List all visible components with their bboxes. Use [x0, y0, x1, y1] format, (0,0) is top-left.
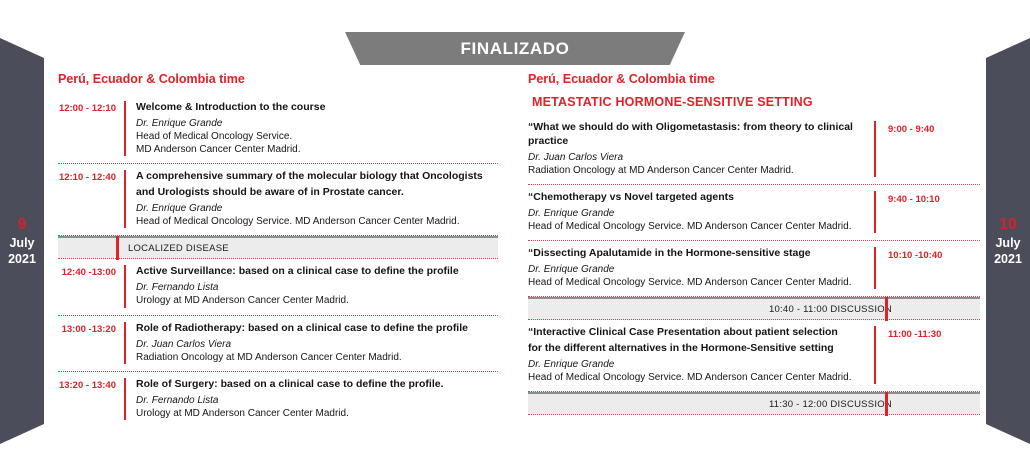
session-affiliation: Radiation Oncology at MD Anderson Cancer…	[528, 164, 864, 177]
section-band-localized-disease: LOCALIZED DISEASE	[58, 236, 498, 259]
session-affiliation: Head of Medical Oncology Service. MD And…	[136, 215, 498, 228]
session-body: “Interactive Clinical Case Presentation …	[528, 326, 874, 384]
session-time: 9:40 - 10:10	[874, 191, 980, 233]
agenda-poster: FINALIZADO 9 July 2021 10 July 2021 Perú…	[0, 0, 1030, 450]
session-affiliation: Head of Medical Oncology Service. MD And…	[528, 371, 864, 384]
session-body: A comprehensive summary of the molecular…	[124, 170, 498, 228]
session-speaker: Dr. Enrique Grande	[528, 263, 864, 276]
session-title: “Dissecting Apalutamide in the Hormone-s…	[528, 247, 864, 261]
timezone-header: Perú, Ecuador & Colombia time	[58, 72, 498, 86]
session-row: 12:10 - 12:40 A comprehensive summary of…	[58, 164, 498, 236]
date-slab-day1: 9 July 2021	[0, 38, 44, 444]
session-speaker: Dr. Enrique Grande	[136, 202, 498, 215]
session-title: Role of Radiotherapy: based on a clinica…	[136, 322, 498, 336]
session-speaker: Dr. Enrique Grande	[136, 117, 498, 130]
status-banner: FINALIZADO	[345, 32, 685, 65]
session-body: Role of Surgery: based on a clinical cas…	[124, 378, 498, 420]
session-time: 11:00 -11:30	[874, 326, 980, 384]
session-speaker: Dr. Enrique Grande	[528, 207, 864, 220]
session-row: “Dissecting Apalutamide in the Hormone-s…	[528, 241, 980, 297]
session-time: 12:40 -13:00	[58, 265, 124, 307]
session-affiliation: Head of Medical Oncology Service.	[136, 130, 498, 143]
session-time: 12:00 - 12:10	[58, 101, 124, 156]
session-body: “What we should do with Oligometastasis:…	[528, 121, 874, 177]
session-speaker: Dr. Juan Carlos Viera	[136, 338, 498, 351]
agenda-column-day1: Perú, Ecuador & Colombia time 12:00 - 12…	[58, 72, 498, 427]
session-time: 13:00 -13:20	[58, 322, 124, 364]
session-body: “Chemotherapy vs Novel targeted agents D…	[528, 191, 874, 233]
session-title: Active Surveillance: based on a clinical…	[136, 265, 498, 279]
session-affiliation: MD Anderson Cancer Center Madrid.	[136, 143, 498, 156]
date-year: 2021	[8, 251, 36, 267]
session-affiliation: Urology at MD Anderson Cancer Center Mad…	[136, 294, 498, 307]
accent-spine	[885, 392, 888, 416]
accent-spine	[885, 297, 888, 321]
session-row: “What we should do with Oligometastasis:…	[528, 115, 980, 185]
discussion-band-label: 10:40 - 11:00 DISCUSSION	[769, 304, 892, 315]
session-title: “Interactive Clinical Case Presentation …	[528, 326, 864, 340]
session-affiliation: Radiation Oncology at MD Anderson Cancer…	[136, 351, 498, 364]
session-title: Welcome & Introduction to the course	[136, 101, 498, 115]
session-title: Role of Surgery: based on a clinical cas…	[136, 378, 498, 392]
status-badge: FINALIZADO	[461, 39, 570, 59]
accent-spine	[116, 236, 119, 260]
session-title: A comprehensive summary of the molecular…	[136, 170, 498, 184]
session-speaker: Dr. Enrique Grande	[528, 358, 864, 371]
section-band-label: LOCALIZED DISEASE	[128, 243, 229, 254]
date-month: July	[995, 235, 1020, 251]
date-day: 9	[18, 215, 27, 235]
session-row: “Chemotherapy vs Novel targeted agents D…	[528, 185, 980, 241]
date-year: 2021	[994, 251, 1022, 267]
session-affiliation: Head of Medical Oncology Service. MD And…	[528, 276, 864, 289]
session-affiliation: Urology at MD Anderson Cancer Center Mad…	[136, 407, 498, 420]
session-row: 12:40 -13:00 Active Surveillance: based …	[58, 259, 498, 315]
session-row: “Interactive Clinical Case Presentation …	[528, 320, 980, 392]
session-speaker: Dr. Fernando Lista	[136, 281, 498, 294]
session-time: 9:00 - 9:40	[874, 121, 980, 177]
session-title: “Chemotherapy vs Novel targeted agents	[528, 191, 864, 205]
date-slab-day2: 10 July 2021	[986, 38, 1030, 444]
session-time: 10:10 -10:40	[874, 247, 980, 289]
session-title: for the different alternatives in the Ho…	[528, 342, 864, 356]
session-row: 13:20 - 13:40 Role of Surgery: based on …	[58, 372, 498, 427]
session-speaker: Dr. Juan Carlos Viera	[528, 151, 864, 164]
session-title: and Urologists should be aware of in Pro…	[136, 186, 498, 200]
date-month: July	[9, 235, 34, 251]
discussion-band: 10:40 - 11:00 DISCUSSION	[528, 297, 980, 320]
session-speaker: Dr. Fernando Lista	[136, 394, 498, 407]
timezone-header: Perú, Ecuador & Colombia time	[528, 72, 980, 86]
date-day: 10	[999, 215, 1017, 235]
session-affiliation: Head of Medical Oncology Service. MD And…	[528, 220, 864, 233]
session-body: Active Surveillance: based on a clinical…	[124, 265, 498, 307]
session-time: 12:10 - 12:40	[58, 170, 124, 228]
discussion-band-label: 11:30 - 12:00 DISCUSSION	[769, 399, 892, 410]
session-body: Welcome & Introduction to the course Dr.…	[124, 101, 498, 156]
session-body: Role of Radiotherapy: based on a clinica…	[124, 322, 498, 364]
session-row: 12:00 - 12:10 Welcome & Introduction to …	[58, 95, 498, 164]
session-row: 13:00 -13:20 Role of Radiotherapy: based…	[58, 316, 498, 372]
discussion-band: 11:30 - 12:00 DISCUSSION	[528, 392, 980, 415]
session-body: “Dissecting Apalutamide in the Hormone-s…	[528, 247, 874, 289]
session-time: 13:20 - 13:40	[58, 378, 124, 420]
section-title: METASTATIC HORMONE-SENSITIVE SETTING	[532, 95, 980, 109]
agenda-column-day2: Perú, Ecuador & Colombia time METASTATIC…	[528, 72, 980, 415]
session-title: “What we should do with Oligometastasis:…	[528, 121, 864, 149]
